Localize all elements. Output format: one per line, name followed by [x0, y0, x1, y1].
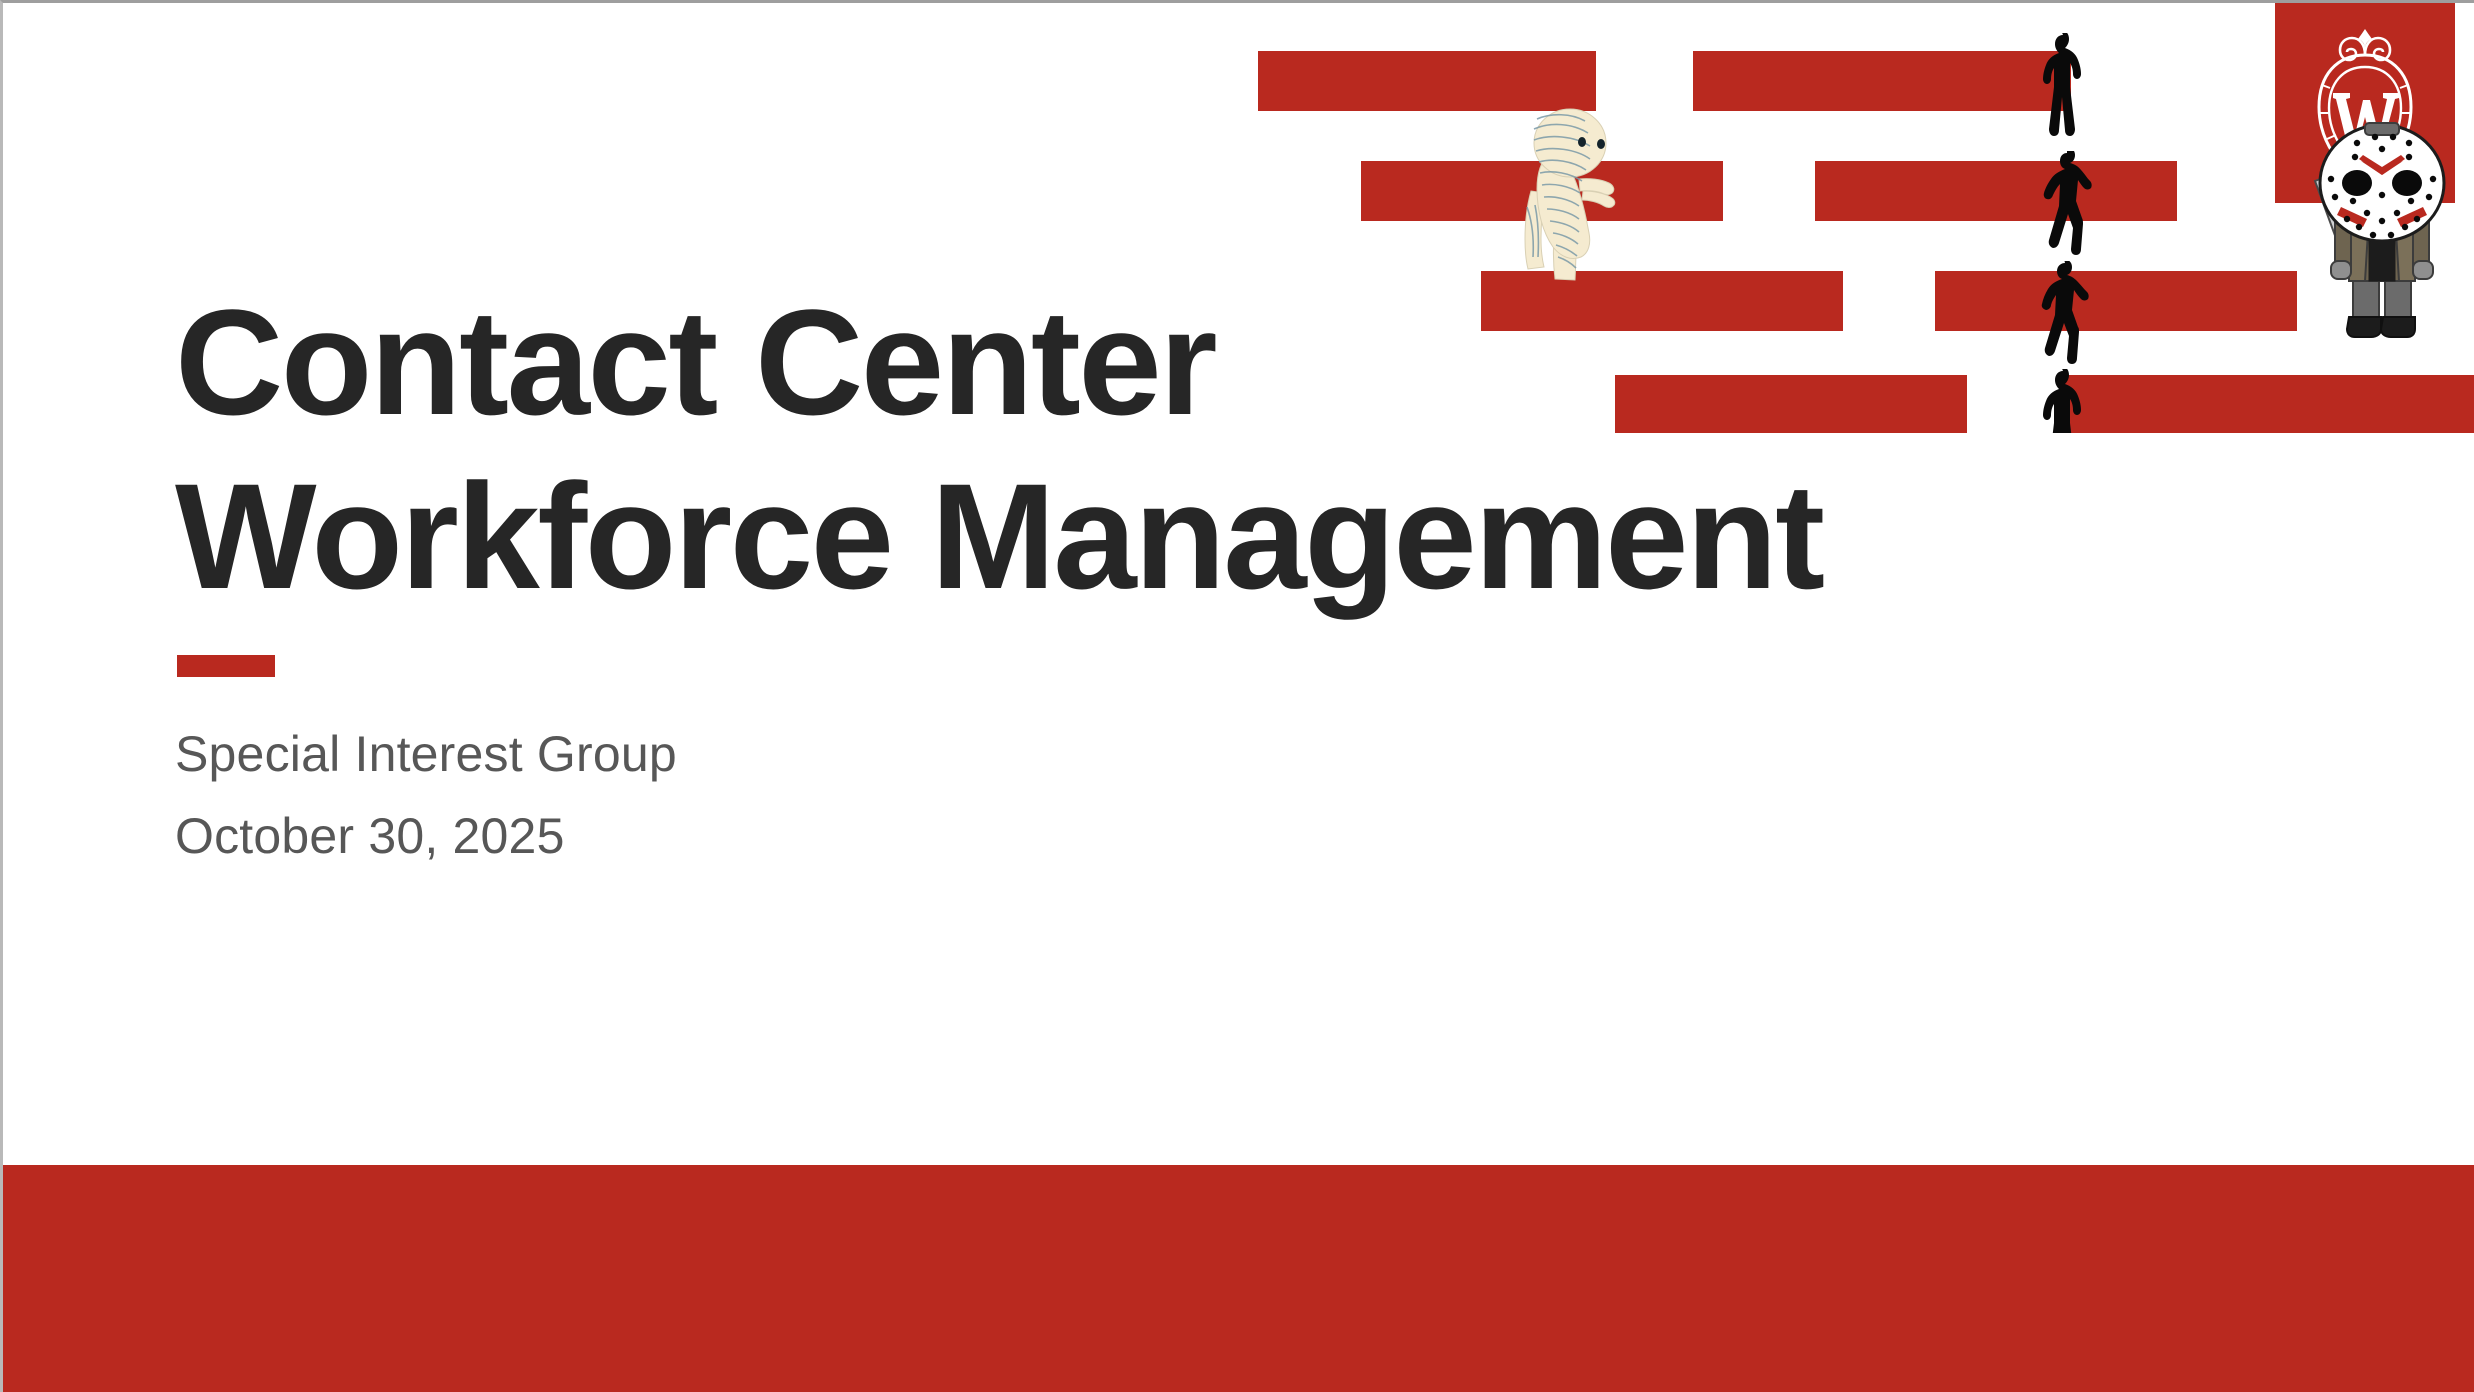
title-slide: Contact Center Workforce Management Spec…: [0, 0, 2474, 1392]
subtitle-text: Special Interest Group: [175, 721, 1375, 787]
person-silhouette-icon: [2023, 261, 2103, 379]
mummy-icon: [1485, 95, 1635, 295]
title-line-2: Workforce Management: [175, 449, 1935, 623]
silhouette-group: [2023, 33, 2103, 433]
accent-bar: [177, 655, 275, 677]
page-title: Contact Center Workforce Management: [175, 275, 1935, 623]
brick: [1815, 161, 2177, 221]
person-silhouette-icon: [2023, 369, 2103, 433]
person-silhouette-icon: [2023, 151, 2103, 269]
person-silhouette-icon: [2023, 33, 2103, 153]
footer-band: [3, 1165, 2474, 1392]
brick: [1693, 51, 2071, 111]
title-line-1: Contact Center: [175, 275, 1935, 449]
brick: [1935, 271, 2297, 331]
title-heading: Contact Center Workforce Management: [175, 275, 1935, 623]
slide-meta: Special Interest Group October 30, 2025: [175, 721, 1375, 869]
brick: [2063, 375, 2474, 433]
date-text: October 30, 2025: [175, 803, 1375, 869]
hockey-mask-slasher-icon: [2297, 115, 2467, 345]
